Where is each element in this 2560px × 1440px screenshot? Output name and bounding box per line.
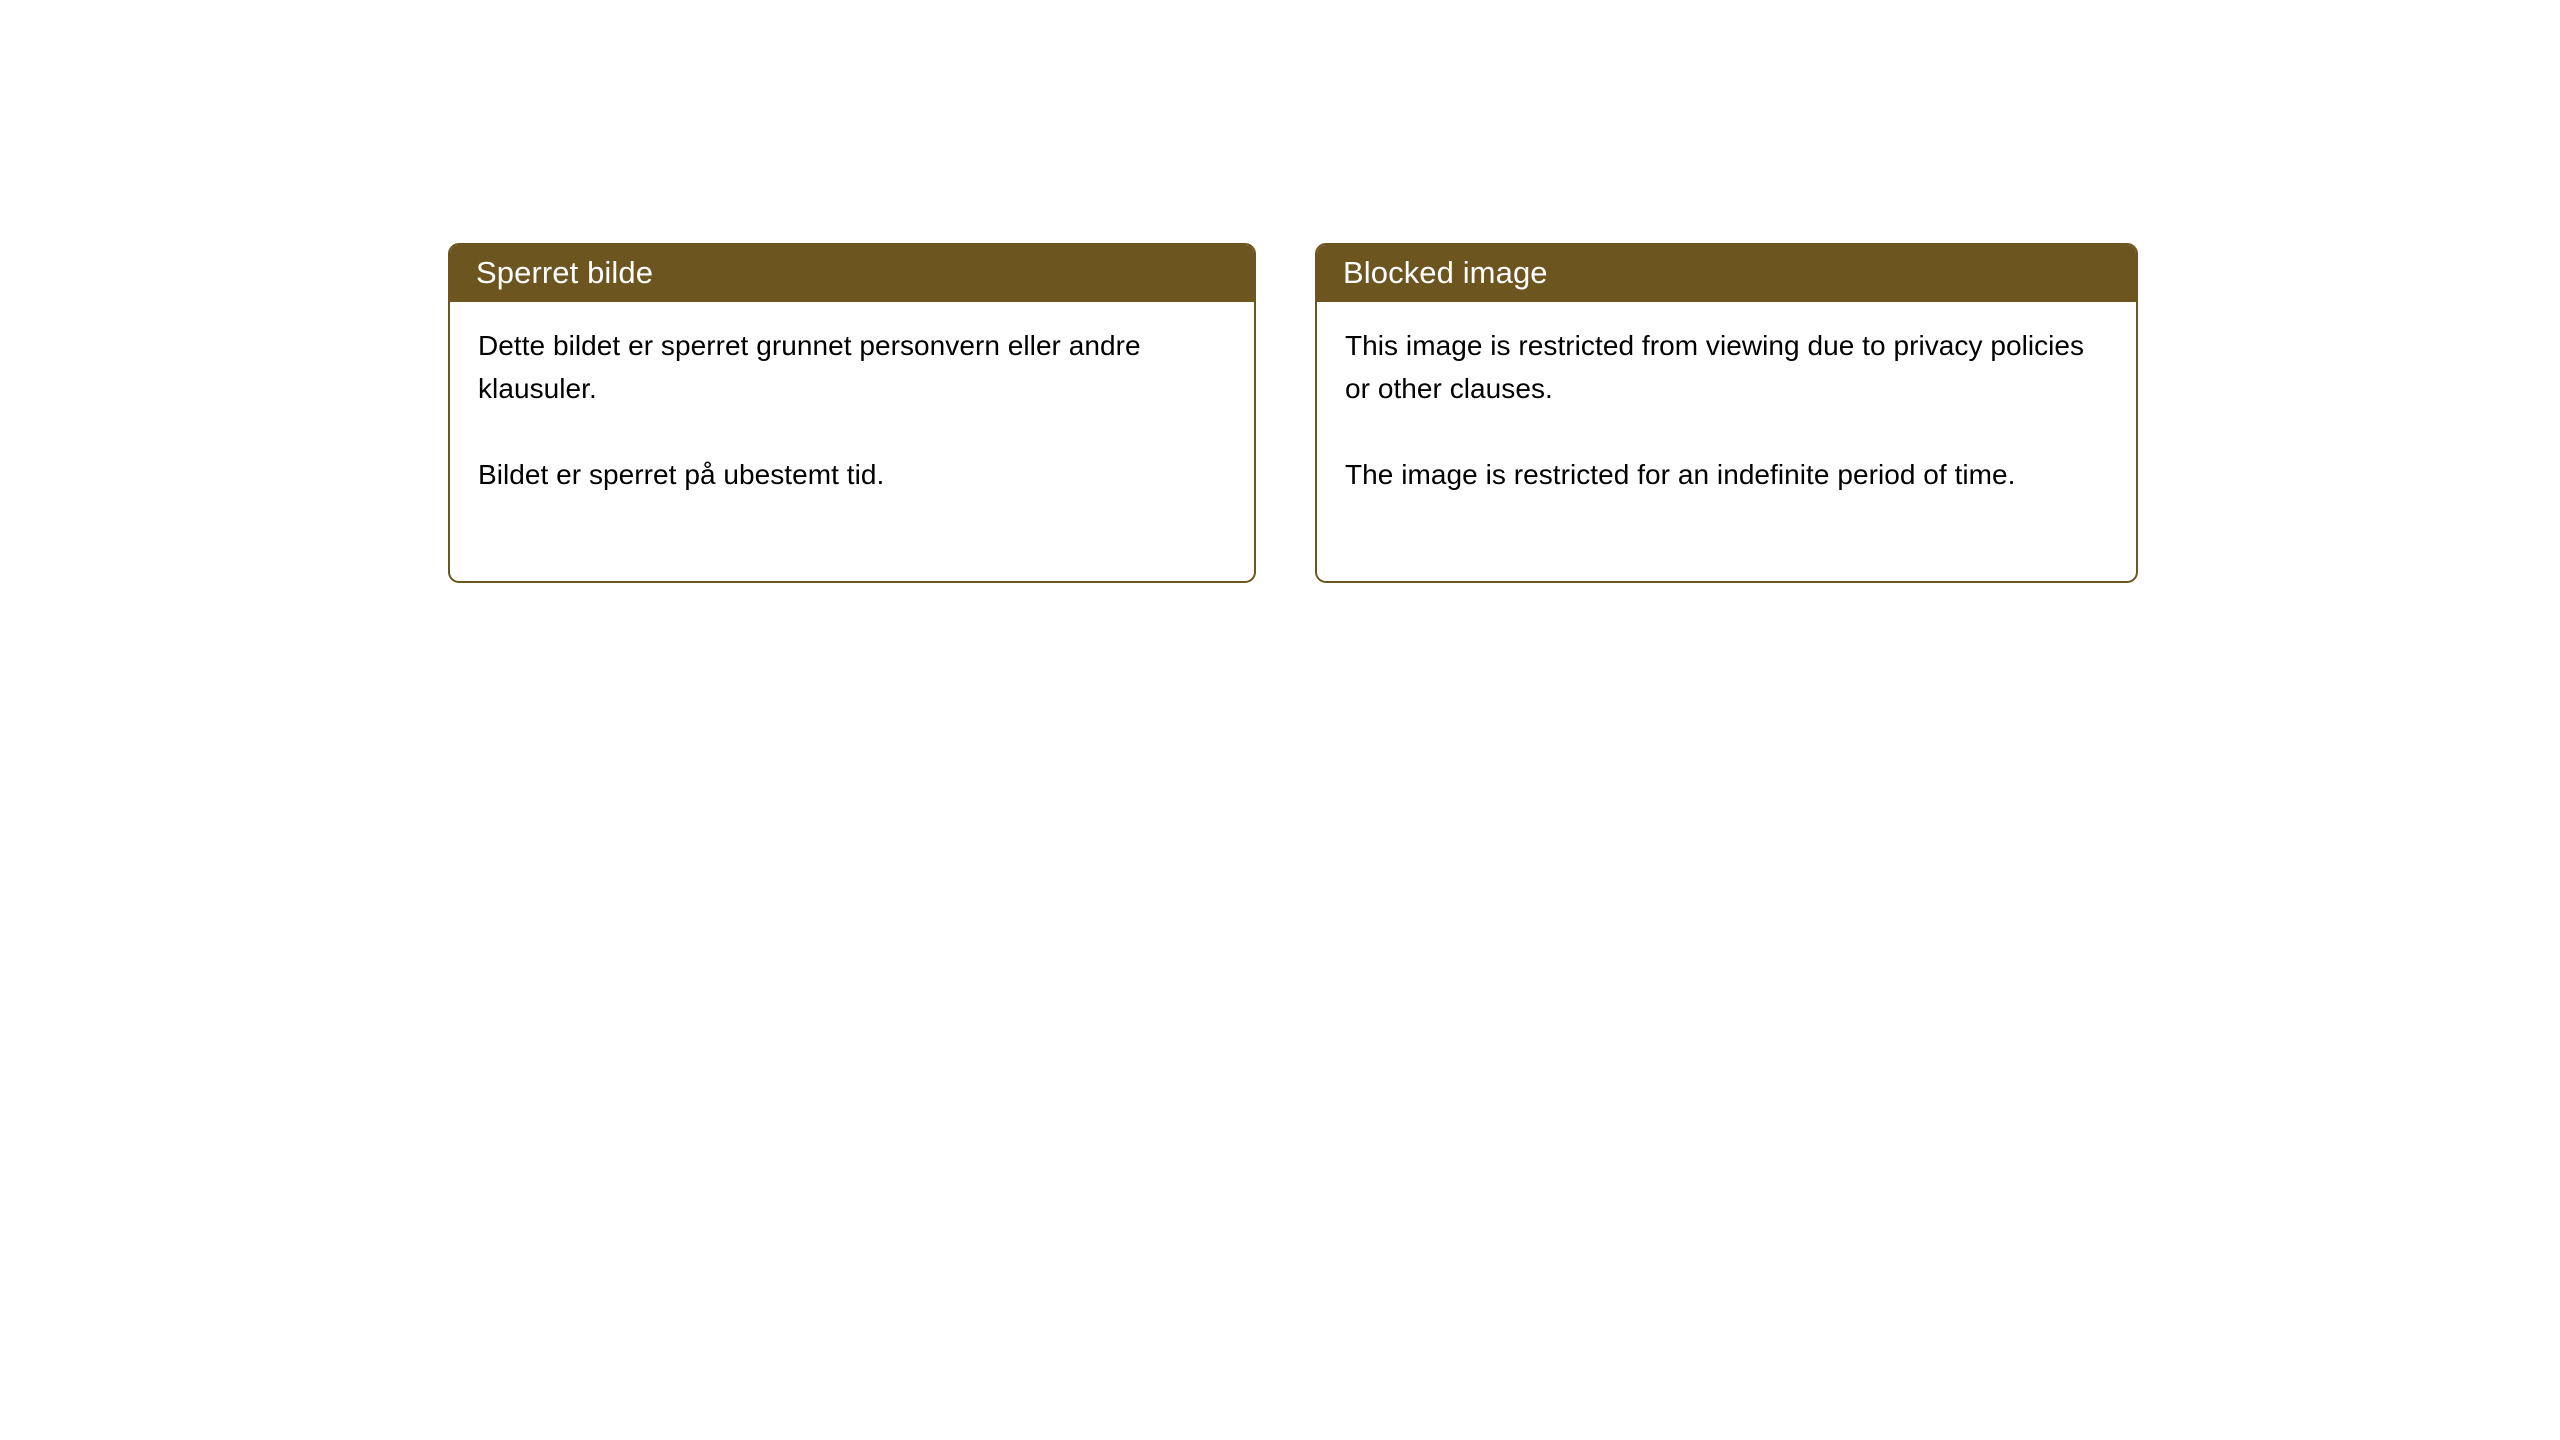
card-body-english: This image is restricted from viewing du… bbox=[1317, 302, 2136, 496]
card-paragraph-secondary-english: The image is restricted for an indefinit… bbox=[1345, 453, 2110, 496]
card-header-norwegian: Sperret bilde bbox=[448, 243, 1256, 302]
card-paragraph-primary-norwegian: Dette bildet er sperret grunnet personve… bbox=[478, 324, 1228, 410]
card-paragraph-primary-english: This image is restricted from viewing du… bbox=[1345, 324, 2110, 410]
card-title-english: Blocked image bbox=[1343, 255, 1548, 291]
card-body-norwegian: Dette bildet er sperret grunnet personve… bbox=[450, 302, 1254, 496]
blocked-image-card-norwegian: Sperret bilde Dette bildet er sperret gr… bbox=[448, 243, 1256, 583]
card-header-english: Blocked image bbox=[1315, 243, 2138, 302]
card-paragraph-secondary-norwegian: Bildet er sperret på ubestemt tid. bbox=[478, 453, 1228, 496]
paragraph-spacer bbox=[1345, 410, 2110, 453]
card-title-norwegian: Sperret bilde bbox=[476, 255, 653, 291]
blocked-image-card-english: Blocked image This image is restricted f… bbox=[1315, 243, 2138, 583]
notice-stage: Sperret bilde Dette bildet er sperret gr… bbox=[0, 0, 2560, 1440]
paragraph-spacer bbox=[478, 410, 1228, 453]
